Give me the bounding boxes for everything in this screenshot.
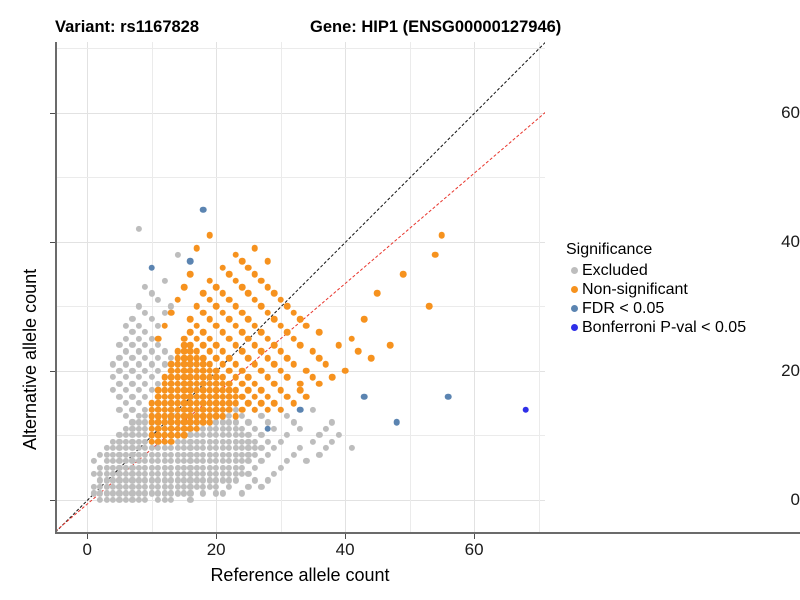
data-point — [220, 406, 226, 412]
data-point — [116, 490, 122, 496]
data-point — [271, 380, 278, 387]
data-point — [239, 380, 246, 387]
data-point — [174, 445, 180, 451]
data-point — [232, 277, 239, 284]
y-tick-label: 40 — [756, 232, 800, 252]
data-point — [245, 400, 251, 406]
data-point — [265, 439, 271, 445]
data-point — [168, 400, 175, 407]
data-point — [161, 393, 168, 400]
data-point — [181, 406, 188, 413]
data-point — [239, 452, 245, 458]
data-point — [174, 477, 180, 483]
data-point — [220, 464, 226, 470]
data-point — [252, 439, 258, 445]
legend-item-fdr[interactable]: FDR < 0.05 — [566, 299, 746, 318]
data-point — [103, 445, 109, 451]
data-point — [226, 426, 232, 432]
data-point — [297, 387, 304, 394]
data-point — [207, 452, 213, 458]
data-point — [226, 471, 232, 477]
data-point — [181, 464, 187, 470]
data-point — [116, 452, 122, 458]
data-point — [232, 400, 239, 407]
data-point — [187, 316, 194, 323]
data-point — [264, 426, 271, 433]
data-point — [239, 284, 246, 291]
data-point — [226, 484, 232, 490]
data-point — [290, 400, 297, 407]
data-point — [123, 452, 129, 458]
data-point — [252, 477, 258, 483]
data-point — [103, 471, 109, 477]
data-point — [245, 387, 252, 394]
data-point — [97, 477, 103, 483]
data-point — [168, 452, 174, 458]
data-point — [129, 439, 135, 445]
data-point — [258, 445, 264, 451]
data-point — [162, 458, 168, 464]
data-point — [162, 400, 168, 406]
data-point — [129, 394, 135, 400]
data-point — [226, 406, 233, 413]
data-point — [258, 387, 265, 394]
data-point — [162, 348, 168, 354]
data-point — [187, 387, 193, 393]
data-point — [258, 458, 264, 464]
data-point — [110, 452, 116, 458]
data-point — [116, 458, 122, 464]
data-point — [252, 271, 259, 278]
data-point — [207, 477, 213, 483]
data-point — [136, 323, 142, 329]
gridline-vertical-minor — [281, 42, 282, 532]
data-point — [110, 484, 116, 490]
data-point — [200, 374, 206, 380]
data-point — [174, 400, 180, 406]
data-point — [258, 484, 264, 490]
data-point — [162, 394, 168, 400]
data-point — [232, 413, 239, 420]
data-point — [239, 439, 245, 445]
legend-item-non-significant[interactable]: Non-significant — [566, 280, 746, 299]
data-point — [136, 426, 142, 432]
data-point — [162, 374, 168, 380]
data-point — [206, 316, 213, 323]
data-point — [187, 452, 193, 458]
data-point — [187, 329, 194, 336]
data-point — [136, 484, 142, 490]
data-point — [271, 471, 277, 477]
y-tick-label: 60 — [756, 103, 800, 123]
data-point — [200, 439, 206, 445]
data-point — [155, 413, 161, 419]
data-point — [116, 342, 122, 348]
gridline-vertical — [87, 42, 88, 532]
data-point — [226, 387, 233, 394]
data-point — [200, 426, 206, 432]
data-point — [116, 355, 122, 361]
data-point — [174, 490, 180, 496]
data-point — [232, 387, 238, 393]
data-point — [162, 310, 168, 316]
data-point — [220, 490, 226, 496]
data-point — [290, 419, 296, 425]
data-point — [174, 380, 181, 387]
data-point — [258, 329, 265, 336]
data-point — [226, 400, 232, 406]
data-point — [116, 381, 122, 387]
data-point — [258, 400, 265, 407]
data-point — [200, 464, 206, 470]
data-point — [123, 361, 129, 367]
data-point — [245, 458, 251, 464]
data-point — [297, 445, 303, 451]
data-point — [162, 361, 168, 367]
data-point — [232, 361, 239, 368]
data-point — [142, 477, 148, 483]
data-point — [206, 277, 213, 284]
data-point — [187, 490, 193, 496]
data-point — [174, 387, 181, 394]
data-point — [245, 355, 252, 362]
data-point — [245, 445, 251, 451]
data-point — [226, 413, 232, 419]
gridline-vertical — [345, 42, 346, 532]
legend-item-excluded[interactable]: Excluded — [566, 261, 746, 280]
data-point — [400, 271, 407, 278]
gridline-horizontal-minor — [55, 435, 545, 436]
data-point — [194, 400, 201, 407]
data-point — [194, 245, 201, 252]
data-point — [284, 374, 291, 381]
y-tick — [50, 371, 55, 372]
legend-item-label: Excluded — [582, 261, 648, 280]
data-point — [174, 471, 180, 477]
data-point — [187, 374, 194, 381]
data-point — [187, 419, 194, 426]
data-point — [226, 464, 232, 470]
data-point — [181, 426, 187, 432]
x-tick — [87, 534, 88, 539]
legend-item-label: FDR < 0.05 — [582, 299, 664, 318]
data-point — [181, 355, 188, 362]
data-point — [271, 445, 277, 451]
data-point — [239, 464, 245, 470]
data-point — [91, 458, 97, 464]
data-point — [136, 400, 142, 406]
data-point — [232, 458, 238, 464]
data-point — [187, 258, 194, 265]
data-point — [142, 406, 148, 412]
data-point — [252, 380, 259, 387]
data-point — [97, 471, 103, 477]
data-point — [219, 329, 226, 336]
data-point — [174, 413, 180, 419]
data-point — [181, 355, 187, 361]
data-point — [129, 445, 135, 451]
plot-root: Variant: rs1167828 Gene: HIP1 (ENSG00000… — [0, 0, 800, 600]
data-point — [162, 426, 168, 432]
data-point — [91, 484, 97, 490]
data-point — [174, 458, 180, 464]
data-point — [155, 464, 161, 470]
data-point — [220, 458, 226, 464]
data-point — [123, 400, 129, 406]
data-point — [187, 477, 193, 483]
data-point — [220, 426, 226, 432]
gridline-horizontal — [55, 371, 545, 372]
data-point — [129, 490, 135, 496]
data-point — [206, 406, 213, 413]
data-point — [142, 310, 148, 316]
data-point — [155, 400, 162, 407]
legend-swatch-icon — [566, 261, 582, 280]
gridline-horizontal-minor — [55, 306, 545, 307]
data-point — [335, 342, 342, 349]
data-point — [136, 387, 142, 393]
data-point — [181, 426, 188, 433]
data-point — [322, 361, 329, 368]
data-point — [181, 445, 187, 451]
data-point — [162, 477, 168, 483]
data-point — [206, 387, 213, 394]
data-point — [264, 393, 271, 400]
data-point — [181, 381, 187, 387]
data-point — [348, 335, 355, 342]
data-point — [116, 439, 122, 445]
data-point — [161, 380, 168, 387]
data-point — [200, 490, 206, 496]
data-point — [220, 471, 226, 477]
data-point — [129, 426, 135, 432]
data-point — [226, 393, 233, 400]
data-point — [168, 419, 175, 426]
data-point — [181, 387, 187, 393]
gridline-horizontal-minor — [55, 48, 545, 49]
data-point — [129, 406, 135, 412]
data-point — [194, 394, 200, 400]
data-point — [271, 400, 277, 406]
data-point — [245, 484, 251, 490]
data-point — [187, 484, 193, 490]
data-point — [232, 464, 238, 470]
data-point — [174, 413, 181, 420]
data-point — [155, 452, 161, 458]
data-point — [142, 484, 148, 490]
data-point — [181, 380, 188, 387]
data-point — [200, 387, 206, 393]
data-point — [181, 348, 188, 355]
data-point — [174, 348, 180, 354]
data-point — [162, 452, 168, 458]
data-point — [194, 464, 200, 470]
data-point — [161, 400, 168, 407]
data-point — [181, 458, 187, 464]
data-point — [239, 471, 245, 477]
data-point — [239, 458, 245, 464]
data-point — [200, 452, 206, 458]
data-point — [155, 445, 161, 451]
data-point — [316, 355, 323, 362]
data-point — [226, 335, 233, 342]
data-point — [219, 413, 226, 420]
data-point — [252, 406, 258, 412]
data-point — [290, 452, 296, 458]
data-point — [219, 309, 226, 316]
data-point — [206, 361, 213, 368]
data-point — [97, 464, 103, 470]
data-point — [200, 394, 206, 400]
data-point — [200, 342, 207, 349]
data-point — [181, 342, 188, 349]
data-point — [155, 484, 161, 490]
data-point — [329, 419, 335, 425]
data-point — [219, 393, 226, 400]
data-point — [181, 387, 188, 394]
data-point — [245, 439, 251, 445]
data-point — [129, 316, 135, 322]
data-point — [174, 355, 181, 362]
data-point — [155, 323, 161, 329]
data-point — [207, 471, 213, 477]
data-point — [174, 464, 180, 470]
legend-swatch-icon — [566, 318, 582, 337]
y-tick — [50, 500, 55, 501]
data-point — [252, 245, 259, 252]
data-point — [200, 413, 207, 420]
data-point — [103, 458, 109, 464]
data-point — [168, 477, 174, 483]
data-point — [116, 445, 122, 451]
data-point — [161, 406, 168, 413]
legend-item-bonferroni[interactable]: Bonferroni P-val < 0.05 — [566, 318, 746, 337]
reference-line-identity — [55, 42, 545, 532]
data-point — [142, 329, 148, 335]
data-point — [245, 419, 251, 425]
data-point — [219, 348, 226, 355]
data-point — [297, 380, 304, 387]
data-point — [200, 458, 206, 464]
data-point — [226, 400, 233, 407]
data-point — [155, 458, 161, 464]
data-point — [258, 413, 264, 419]
data-point — [187, 342, 194, 349]
data-point — [187, 426, 194, 433]
data-point — [142, 458, 148, 464]
data-point — [162, 413, 168, 419]
data-point — [187, 445, 193, 451]
data-point — [123, 374, 129, 380]
data-point — [123, 413, 129, 419]
data-point — [245, 452, 251, 458]
data-point — [303, 322, 310, 329]
data-point — [200, 361, 207, 368]
data-point — [284, 355, 291, 362]
data-point — [155, 471, 161, 477]
data-point — [297, 406, 304, 413]
data-point — [187, 400, 194, 407]
data-point — [174, 387, 180, 393]
data-point — [187, 439, 193, 445]
data-point — [110, 374, 116, 380]
data-point — [232, 445, 238, 451]
data-point — [187, 361, 193, 367]
data-point — [194, 355, 201, 362]
data-point — [181, 452, 187, 458]
data-point — [155, 355, 161, 361]
data-point — [174, 252, 180, 258]
legend-title: Significance — [566, 241, 746, 259]
data-point — [194, 484, 200, 490]
data-point — [110, 445, 116, 451]
data-point — [168, 490, 174, 496]
variant-title: Variant: rs1167828 — [55, 18, 199, 37]
data-point — [207, 458, 213, 464]
data-point — [123, 445, 129, 451]
data-point — [168, 381, 174, 387]
data-point — [168, 380, 175, 387]
data-point — [239, 445, 245, 451]
data-point — [219, 374, 226, 381]
data-point — [303, 393, 310, 400]
data-point — [316, 452, 322, 458]
data-point — [194, 381, 200, 387]
data-point — [207, 381, 213, 387]
data-point — [162, 445, 168, 451]
data-point — [129, 484, 135, 490]
data-point — [155, 413, 162, 420]
data-point — [168, 309, 175, 316]
data-point — [136, 471, 142, 477]
data-point — [187, 400, 193, 406]
data-point — [232, 393, 239, 400]
data-point — [162, 464, 168, 470]
data-point — [168, 484, 174, 490]
data-point — [220, 452, 226, 458]
data-point — [194, 452, 200, 458]
data-point — [168, 406, 174, 412]
data-point — [155, 335, 162, 342]
data-point — [142, 471, 148, 477]
data-point — [123, 484, 129, 490]
data-point — [316, 380, 323, 387]
data-point — [110, 439, 116, 445]
data-point — [174, 361, 181, 368]
data-point — [181, 284, 188, 291]
data-point — [245, 374, 252, 381]
data-point — [155, 381, 161, 387]
data-point — [239, 426, 245, 432]
data-point — [271, 426, 277, 432]
data-point — [142, 381, 148, 387]
data-point — [348, 445, 354, 451]
data-point — [264, 406, 271, 413]
data-point — [265, 419, 271, 425]
data-point — [142, 426, 148, 432]
data-point — [310, 374, 317, 381]
data-point — [271, 290, 278, 297]
data-point — [207, 426, 213, 432]
y-axis-label: Alternative allele count — [20, 269, 41, 450]
data-point — [181, 484, 187, 490]
data-point — [232, 426, 238, 432]
data-point — [174, 374, 181, 381]
data-point — [91, 471, 97, 477]
data-point — [162, 471, 168, 477]
data-point — [239, 309, 246, 316]
data-point — [194, 426, 200, 432]
